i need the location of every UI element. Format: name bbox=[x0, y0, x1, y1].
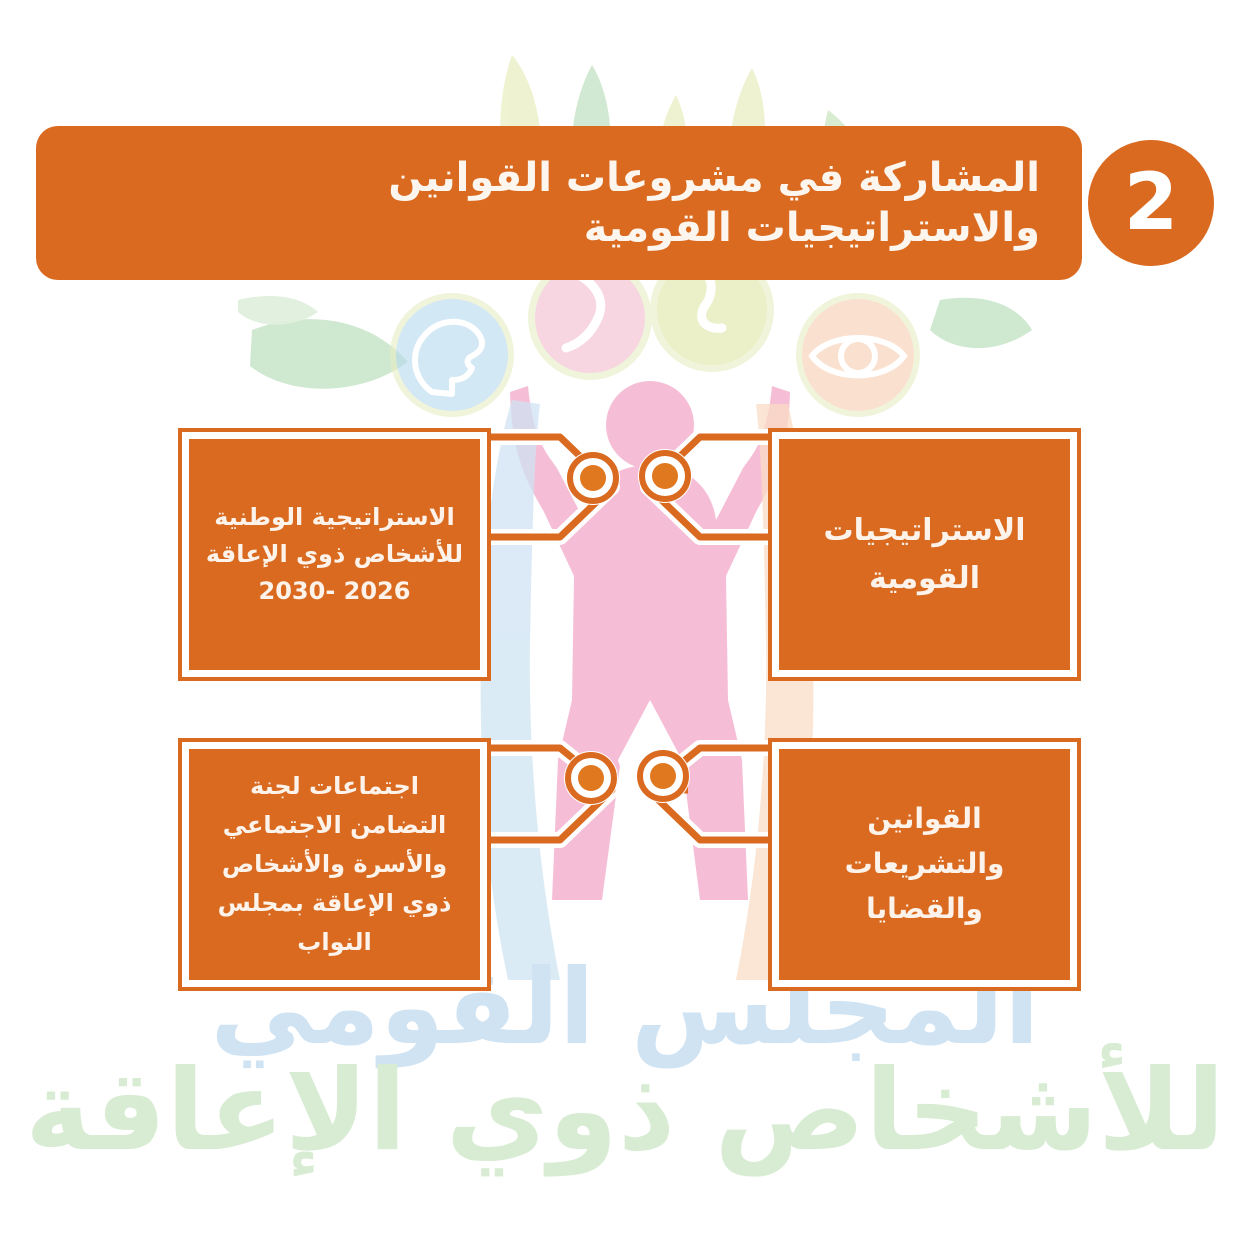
connector-node-bottom-right-core bbox=[650, 763, 676, 789]
card-laws-legislation-label: القوانين والتشريعات والقضايا bbox=[779, 797, 1070, 931]
infographic-canvas: المجلس القومي للأشخاص ذوي الإعاقة bbox=[0, 0, 1250, 1250]
card-national-strategy-detail[interactable]: الاستراتيجية الوطنية للأشخاص ذوي الإعاقة… bbox=[182, 432, 487, 677]
step-number-badge: 2 bbox=[1088, 140, 1214, 266]
connector-node-top-left-core bbox=[580, 465, 606, 491]
card-laws-legislation[interactable]: القوانين والتشريعات والقضايا bbox=[772, 742, 1077, 987]
header-banner: المشاركة في مشروعات القوانين والاستراتيج… bbox=[36, 126, 1082, 280]
connector-node-bottom-left-core bbox=[578, 765, 604, 791]
card-national-strategies[interactable]: الاستراتيجيات القومية bbox=[772, 432, 1077, 677]
step-number-text: 2 bbox=[1124, 164, 1178, 242]
card-national-strategy-detail-label: الاستراتيجية الوطنية للأشخاص ذوي الإعاقة… bbox=[190, 499, 479, 611]
card-committee-meetings-label: اجتماعات لجنة التضامن الاجتماعي والأسرة … bbox=[202, 767, 468, 961]
page-title: المشاركة في مشروعات القوانين والاستراتيج… bbox=[36, 153, 1082, 253]
connector-node-top-right-core bbox=[652, 463, 678, 489]
card-committee-meetings[interactable]: اجتماعات لجنة التضامن الاجتماعي والأسرة … bbox=[182, 742, 487, 987]
card-national-strategies-label: الاستراتيجيات القومية bbox=[807, 507, 1041, 603]
header-bar: المشاركة في مشروعات القوانين والاستراتيج… bbox=[36, 126, 1082, 280]
